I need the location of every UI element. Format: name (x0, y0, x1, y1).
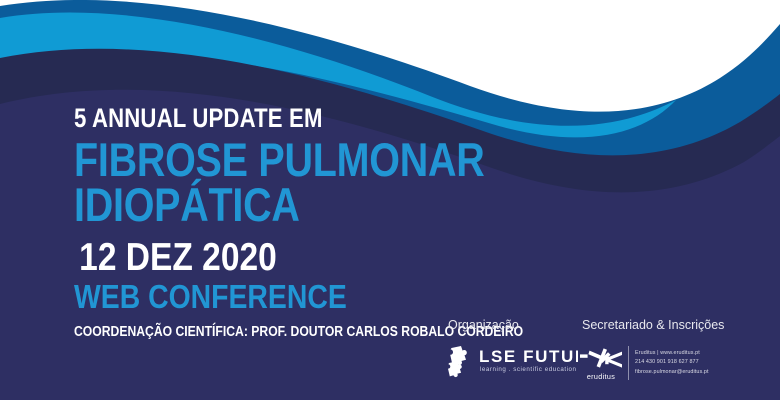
event-date: 12 DEZ 2020 (74, 238, 435, 277)
event-format: WEB CONFERENCE (74, 280, 435, 313)
conference-banner: 5 ANNUAL UPDATE EM FIBROSE PULMONAR IDIO… (0, 0, 780, 400)
puzzle-piece-icon (448, 346, 467, 377)
eruditus-phones: 214 430 901 918 627 877 (635, 358, 724, 367)
lse-future-wordmark: LSE FUTURE learning . scientific educati… (479, 347, 578, 373)
svg-text:LSE FUTURE: LSE FUTURE (479, 347, 578, 366)
eruditus-email[interactable]: fibrose.pulmonar@eruditus.pt (635, 368, 724, 377)
eruditus-website[interactable]: Eruditus | www.eruditus.pt (635, 349, 724, 358)
svg-text:learning . scientific educatio: learning . scientific education (480, 366, 577, 373)
event-headline-line-2: IDIOPÁTICA (74, 182, 427, 228)
eruditus-logo[interactable]: eruditus (578, 342, 624, 386)
lse-future-logo[interactable]: LSE FUTURE learning . scientific educati… (443, 343, 578, 379)
event-headline-line-1: FIBROSE PULMONAR (74, 137, 427, 183)
organization-label: Organização (448, 318, 519, 332)
event-kicker: 5 ANNUAL UPDATE EM (74, 104, 418, 133)
eruditus-wordmark: eruditus (587, 372, 615, 381)
secretariat-label: Secretariado & Inscrições (582, 318, 724, 332)
arrow-chevron-icon (580, 348, 622, 367)
scientific-coordination: COORDENAÇÃO CIENTÍFICA: PROF. DOUTOR CAR… (74, 325, 427, 340)
title-block: 5 ANNUAL UPDATE EM FIBROSE PULMONAR IDIO… (74, 104, 494, 339)
eruditus-contact-block: Eruditus | www.eruditus.pt 214 430 901 9… (628, 346, 724, 380)
